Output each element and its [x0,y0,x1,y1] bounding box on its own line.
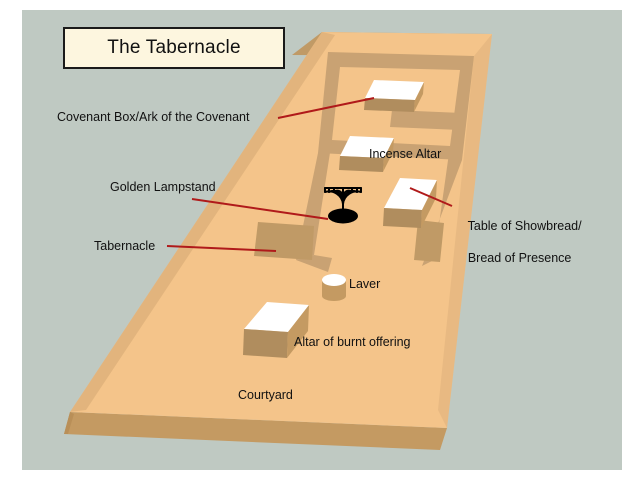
label-altar-of-burnt-offering: Altar of burnt offering [294,335,411,350]
label-golden-lampstand: Golden Lampstand [110,180,216,195]
ark-front [364,98,415,112]
showbread-front [383,208,422,228]
slide-root: The Tabernacle Covenant Box/Ark of the C… [0,0,640,480]
label-showbread-line-2: Bread of Presence [468,251,572,265]
label-ark-of-covenant: Covenant Box/Ark of the Covenant [57,110,249,125]
label-tabernacle: Tabernacle [94,239,155,254]
laver-rim [322,274,346,286]
label-table-of-showbread: Table of Showbread/ Bread of Presence [447,202,582,282]
veil-divider-wall [390,110,462,130]
page-title: The Tabernacle [107,37,240,59]
ark-of-covenant-box [364,80,424,112]
label-showbread-line-1: Table of Showbread/ [468,219,582,233]
label-laver: Laver [349,277,380,292]
title-card: The Tabernacle [63,27,285,69]
laver-bottom [322,291,346,301]
slide-canvas: The Tabernacle Covenant Box/Ark of the C… [22,10,622,470]
tabernacle-left-block [254,222,314,260]
label-courtyard: Courtyard [238,388,293,403]
burnt-altar-front [243,329,288,358]
ark-top [365,80,424,100]
laver-basin [322,274,346,301]
label-incense-altar: Incense Altar [369,147,441,162]
